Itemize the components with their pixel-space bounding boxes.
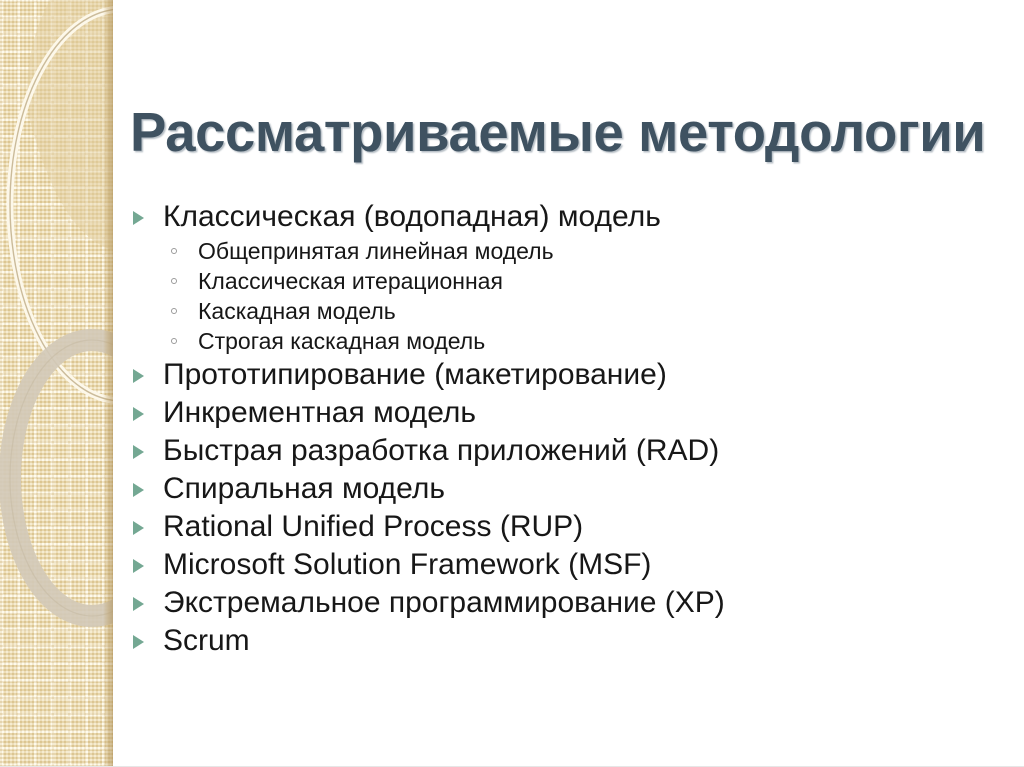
triangle-right-icon <box>133 483 144 497</box>
methodology-list: Классическая (водопадная) модель Общепри… <box>130 198 1010 660</box>
list-item-label: Scrum <box>163 624 250 657</box>
list-item-label: Спиральная модель <box>163 472 445 505</box>
list-item-label: Каскадная модель <box>198 298 396 324</box>
list-item[interactable]: Спиральная модель <box>130 470 1010 508</box>
list-item-label: Rational Unified Process (RUP) <box>163 510 583 543</box>
sublist: Общепринятая линейная модель Классическа… <box>130 236 1010 356</box>
list-item[interactable]: Быстрая разработка приложений (RAD) <box>130 432 1010 470</box>
circle-outline-icon <box>171 278 177 284</box>
list-item[interactable]: Scrum <box>130 622 1010 660</box>
list-item[interactable]: Классическая (водопадная) модель <box>130 198 1010 236</box>
triangle-right-icon <box>133 445 144 459</box>
list-item[interactable]: Каскадная модель <box>130 296 1010 326</box>
sidebar-edge-shade <box>103 0 113 767</box>
triangle-right-icon <box>133 407 144 421</box>
small-thick-ring <box>10 340 113 616</box>
list-item-label: Быстрая разработка приложений (RAD) <box>163 434 719 467</box>
list-item[interactable]: Классическая итерационная <box>130 266 1010 296</box>
circle-outline-icon <box>171 338 177 344</box>
sidebar-ring-graphics <box>0 0 113 767</box>
list-item-label: Классическая итерационная <box>198 268 503 294</box>
page-title: Рассматриваемые методологии <box>130 101 1011 163</box>
list-item-label: Строгая каскадная модель <box>198 328 485 354</box>
list-item[interactable]: Microsoft Solution Framework (MSF) <box>130 546 1010 584</box>
triangle-right-icon <box>133 635 144 649</box>
list-item-label: Общепринятая линейная модель <box>198 238 554 264</box>
slide-canvas: Рассматриваемые методологии Классическая… <box>0 0 1024 767</box>
triangle-right-icon <box>133 521 144 535</box>
list-item[interactable]: Rational Unified Process (RUP) <box>130 508 1010 546</box>
list-item[interactable]: Общепринятая линейная модель <box>130 236 1010 266</box>
list-item-label: Экстремальное программирование (XP) <box>163 586 725 619</box>
list-item[interactable]: Экстремальное программирование (XP) <box>130 584 1010 622</box>
triangle-right-icon <box>133 211 144 225</box>
list-item-label: Классическая (водопадная) модель <box>163 200 661 233</box>
circle-outline-icon <box>171 308 177 314</box>
list-item-label: Прототипирование (макетирование) <box>163 358 667 391</box>
list-item[interactable]: Инкрементная модель <box>130 394 1010 432</box>
content-left-edge <box>113 0 115 767</box>
list-item-label: Инкрементная модель <box>163 396 476 429</box>
triangle-right-icon <box>133 369 144 383</box>
circle-outline-icon <box>171 248 177 254</box>
list-item[interactable]: Строгая каскадная модель <box>130 326 1010 356</box>
triangle-right-icon <box>133 597 144 611</box>
decorative-sidebar <box>0 0 113 767</box>
list-item-label: Microsoft Solution Framework (MSF) <box>163 548 651 581</box>
list-item[interactable]: Прототипирование (макетирование) <box>130 356 1010 394</box>
triangle-right-icon <box>133 559 144 573</box>
ring-tint-region <box>28 0 114 250</box>
